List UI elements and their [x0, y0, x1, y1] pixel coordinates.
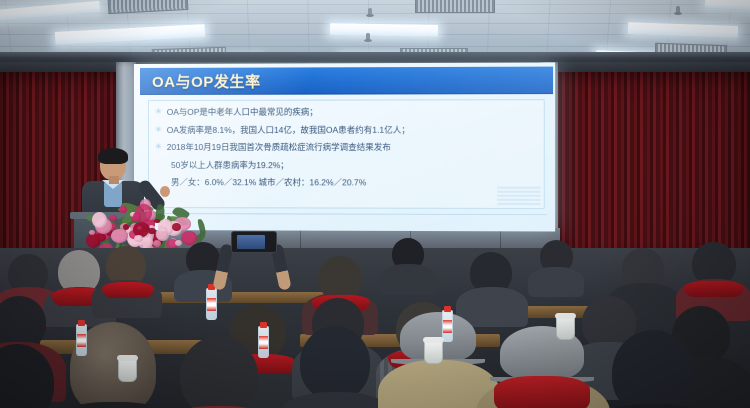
audience-area: [0, 248, 750, 408]
curtain-rail: [0, 62, 118, 72]
red-scarf: [684, 281, 744, 297]
flower: [119, 206, 127, 212]
phone-screen: [237, 235, 265, 249]
ceiling-grid-line: [0, 46, 750, 47]
slide-bullet: ✳ 2018年10月19日我国首次骨质疏松症流行病学调查结果发布: [155, 142, 540, 153]
bottle-cap: [78, 320, 85, 326]
flower: [134, 235, 143, 242]
flower: [123, 224, 129, 230]
tea-cup: [556, 316, 575, 340]
stage-curtain-right: [556, 62, 750, 257]
slide-bullet: ✳ OA发病率是8.1%，我国人口14亿，故我国OA患者约有1.1亿人；: [155, 124, 540, 135]
sprinkler-head: [368, 8, 372, 16]
bottle-label: [207, 298, 216, 311]
bottle-cap: [444, 306, 451, 312]
water-bottle: [258, 326, 269, 358]
bottle-label: [443, 320, 452, 333]
slide-title-bar: OA与OP发生率: [140, 67, 553, 95]
sprinkler-head: [366, 33, 370, 41]
sprinkler-head: [676, 6, 680, 14]
conference-hall-photo: OA与OP发生率 ✳ OA与OP是中老年人口中最常见的疾病； ✳ OA发病率是8…: [0, 0, 750, 408]
suspended-ceiling: [0, 0, 750, 58]
air-vent: [415, 0, 495, 13]
flower: [153, 240, 161, 247]
red-scarf: [494, 376, 590, 408]
flower: [137, 226, 142, 230]
tea-cup: [424, 340, 443, 364]
flower: [89, 230, 95, 235]
shoulders: [380, 264, 436, 294]
ceiling-grid-line: [247, 0, 250, 58]
slide-title: OA与OP发生率: [152, 70, 261, 91]
head: [180, 336, 258, 408]
water-bottle: [442, 310, 453, 342]
bullet-text: OA与OP是中老年人口中最常见的疾病；: [167, 107, 318, 118]
ceiling-grid-line: [546, 0, 550, 58]
bottle-label: [77, 334, 86, 347]
red-scarf: [102, 282, 154, 298]
ceiling-light: [330, 23, 438, 37]
slide-subline: 50岁以上人群患病率为19.2%；: [171, 160, 540, 171]
shoulders: [44, 402, 184, 408]
bullet-marker-icon: ✳: [155, 107, 162, 117]
head: [612, 330, 694, 408]
bottle-label: [259, 336, 268, 349]
presenter-hair: [98, 148, 128, 164]
presenter-neck: [109, 176, 119, 184]
bullet-text: 2018年10月19日我国首次骨质疏松症流行病学调查结果发布: [167, 142, 391, 153]
slide-body: ✳ OA与OP是中老年人口中最常见的疾病； ✳ OA发病率是8.1%，我国人口1…: [148, 99, 545, 209]
attendee-photographing: [205, 228, 301, 298]
bullet-marker-icon: ✳: [155, 142, 162, 152]
bullet-text: OA发病率是8.1%，我国人口14亿，故我国OA患者约有1.1亿人；: [167, 124, 410, 135]
bottle-cap: [260, 322, 267, 328]
flower: [133, 212, 142, 222]
slide-subline: 男／女：6.0%／32.1% 城市／农村：16.2%／20.7%: [171, 177, 540, 188]
curtain-rail: [556, 62, 750, 72]
bullet-marker-icon: ✳: [155, 124, 162, 134]
slide-bullet: ✳ OA与OP是中老年人口中最常见的疾病；: [155, 106, 540, 117]
flower: [156, 228, 169, 241]
slide-bottom-rule: [144, 213, 547, 215]
shoulders: [528, 267, 584, 297]
smartphone: [231, 231, 277, 253]
head: [300, 326, 370, 400]
tea-cup: [118, 358, 137, 382]
ceiling-grid-line: [606, 0, 611, 58]
slide-decoration-lines: [497, 187, 540, 207]
water-bottle: [76, 324, 87, 356]
ceiling-grid-line: [307, 0, 309, 58]
